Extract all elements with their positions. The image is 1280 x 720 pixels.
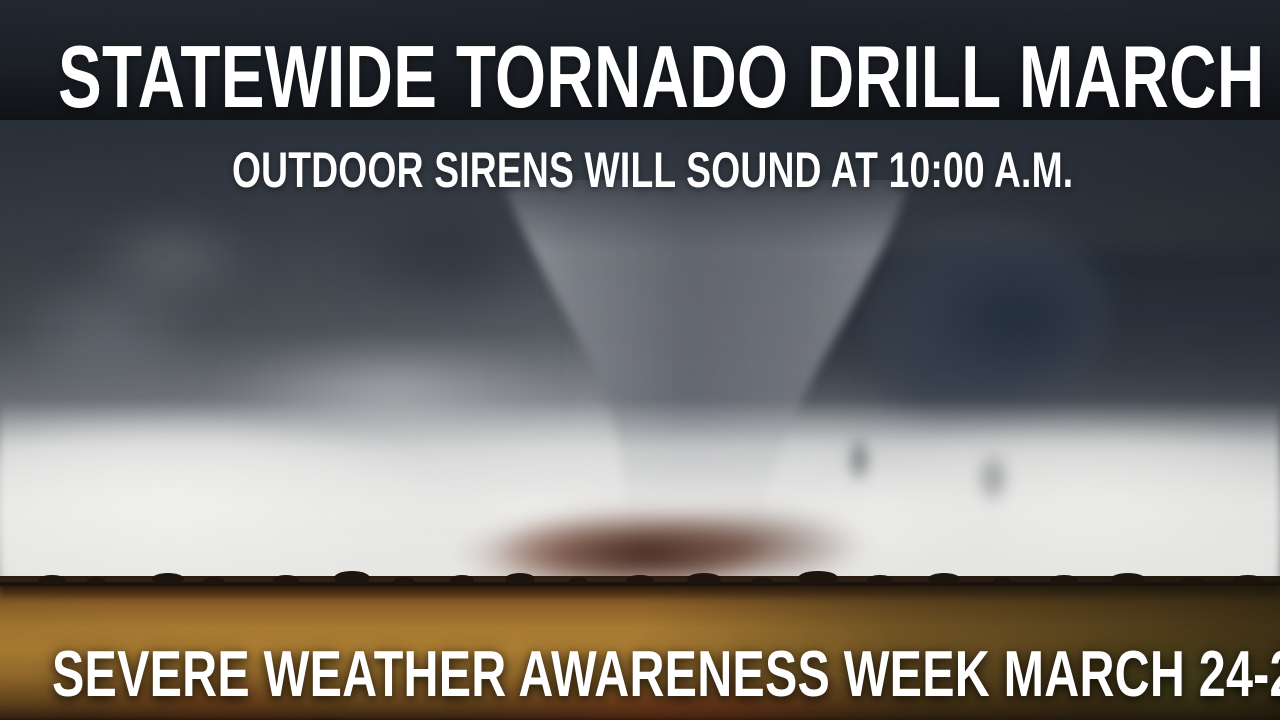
page-title: STATEWIDE TORNADO DRILL MARCH 26 — [58, 33, 930, 121]
tornado-drill-poster: STATEWIDE TORNADO DRILL MARCH 26 OUTDOOR… — [0, 0, 1280, 720]
subtitle: OUTDOOR SIRENS WILL SOUND AT 10:00 A.M. — [232, 145, 841, 195]
poster-text-layer: STATEWIDE TORNADO DRILL MARCH 26 OUTDOOR… — [0, 0, 1280, 720]
footer-banner-text: SEVERE WEATHER AWARENESS WEEK MARCH 24-2… — [52, 641, 930, 706]
